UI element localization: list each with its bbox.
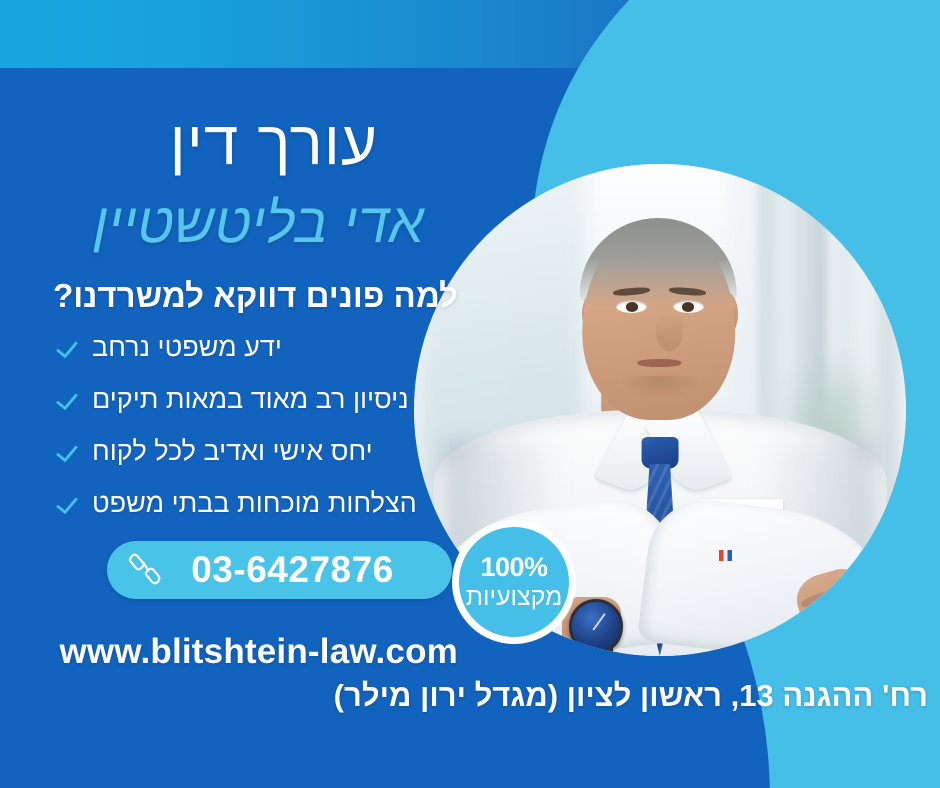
content-column: עורך דין אדי בליטשטיין למה פונים דווקא ל… [0,0,470,788]
phone-handset-icon [125,550,165,590]
pupil-right [682,302,694,312]
address-row: רח' ההגנה 13, ראשון לציון (מגדל ירון מיל… [0,678,940,720]
list-item-label: ניסיון רב מאוד במאות תיקים [92,384,409,415]
list-item-label: הצלחות מוכחות בבתי משפט [92,488,417,519]
list-item: ידע משפטי נרחב [58,330,458,364]
check-icon [58,336,80,358]
check-icon [58,492,80,514]
page-title-name: אדי בליטשטיין [93,190,424,255]
wristwatch-icon [569,599,623,653]
hair [580,218,737,307]
page-title-profession: עורך דין [170,108,378,179]
office-address: רח' ההגנה 13, ראשון לציון (מגדל ירון מיל… [334,678,928,713]
chin-shadow [617,376,701,401]
benefits-list: ידע משפטי נרחב ניסיון רב מאוד במאות תיקי… [58,330,458,538]
website-url[interactable]: www.blitshtein-law.com [59,632,458,672]
advertisement-banner: 100% מקצועיות עורך דין אדי בליטשטיין למה… [0,0,940,788]
pupil-left [626,302,638,312]
headline-question: למה פונים דווקא למשרדנו? [53,277,458,315]
nose [656,312,683,351]
check-icon [58,440,80,462]
list-item: ניסיון רב מאוד במאות תיקים [58,382,458,416]
professionalism-badge: 100% מקצועיות [452,520,576,644]
shirt-pocket-logo [719,550,732,561]
badge-percent: 100% [480,553,547,582]
list-item-label: ידע משפטי נרחב [92,332,282,363]
check-icon [58,388,80,410]
list-item-label: יחס אישי ואדיב לכל לקוח [92,436,373,467]
phone-number[interactable]: 03-6427876 [181,549,430,591]
badge-label: מקצועיות [466,584,563,611]
list-item: יחס אישי ואדיב לכל לקוח [58,434,458,468]
phone-cta-button[interactable]: 03-6427876 [107,541,452,599]
mouth [637,359,681,367]
list-item: הצלחות מוכחות בבתי משפט [58,486,458,520]
